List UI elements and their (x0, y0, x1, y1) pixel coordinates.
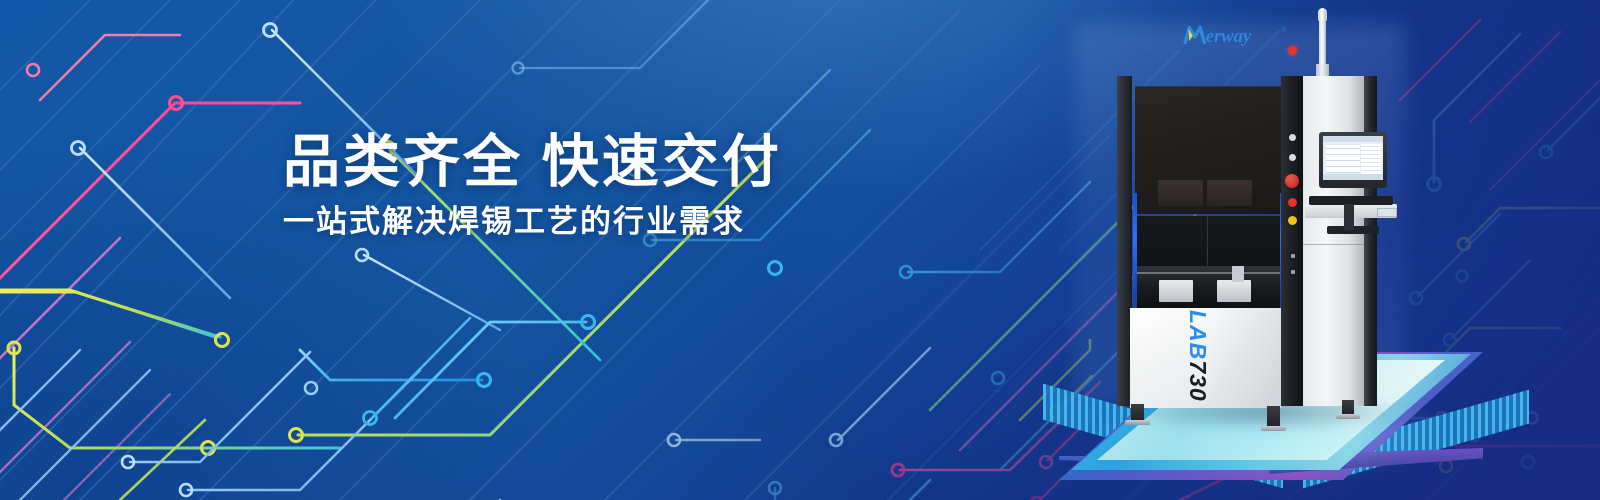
hmi-toolbar (1323, 136, 1383, 142)
model-label: LAB730 (1181, 310, 1211, 406)
svg-text:erway: erway (1206, 26, 1252, 47)
hmi-statusbar (1323, 174, 1383, 180)
monitor-stand (1344, 204, 1354, 230)
operator-hmi-screen[interactable] (1323, 136, 1383, 180)
hmi-data-table (1361, 144, 1381, 174)
cabinet-mid-panel (1135, 216, 1282, 268)
status-lamp-red (1288, 198, 1297, 207)
conveyor-rail (1137, 272, 1280, 274)
pcb-fixture-left (1159, 280, 1193, 302)
status-lamp-grey-2 (1289, 154, 1296, 161)
product-image-soldering-machine: LAB730 erway ® (1095, 8, 1425, 448)
status-lamp-red-top (1288, 46, 1297, 55)
page-title: 品类齐全 快速交付 (283, 132, 943, 192)
status-lamp-grey-1 (1289, 134, 1296, 141)
indicator-dot-1 (1291, 254, 1295, 258)
status-lamp-yellow (1288, 216, 1297, 225)
model-prefix: LAB (1185, 310, 1211, 360)
pcb-fixture-right (1217, 280, 1251, 302)
machine-foot-pad-center (1261, 426, 1286, 431)
inner-window-right (1207, 180, 1252, 206)
machine-foot-center (1267, 406, 1280, 428)
machine-foot-pad-left (1125, 420, 1150, 425)
brand-logo: erway ® (1181, 22, 1291, 48)
signal-tower-rod (1319, 10, 1326, 72)
side-drawer (1377, 208, 1397, 217)
right-column-seam (1294, 244, 1364, 245)
machine-foot-pad-right (1336, 414, 1360, 419)
hmi-plot-area (1326, 145, 1360, 173)
svg-text:®: ® (1281, 27, 1286, 34)
headline-block: 品类齐全 快速交付 一站式解决焊锡工艺的行业需求 (283, 132, 943, 240)
right-column-panel (1294, 76, 1364, 406)
model-number: 730 (1185, 360, 1211, 401)
product-hero-banner: 品类齐全 快速交付 一站式解决焊锡工艺的行业需求 (0, 0, 1600, 500)
indicator-dot-2 (1291, 270, 1295, 274)
solder-nozzle-head (1232, 266, 1244, 282)
control-pillar (1281, 76, 1303, 406)
page-subtitle: 一站式解决焊锡工艺的行业需求 (283, 205, 943, 239)
cabinet-mid-seam (1207, 216, 1208, 268)
emergency-stop-button[interactable] (1285, 174, 1299, 188)
inner-window-left (1158, 180, 1203, 206)
